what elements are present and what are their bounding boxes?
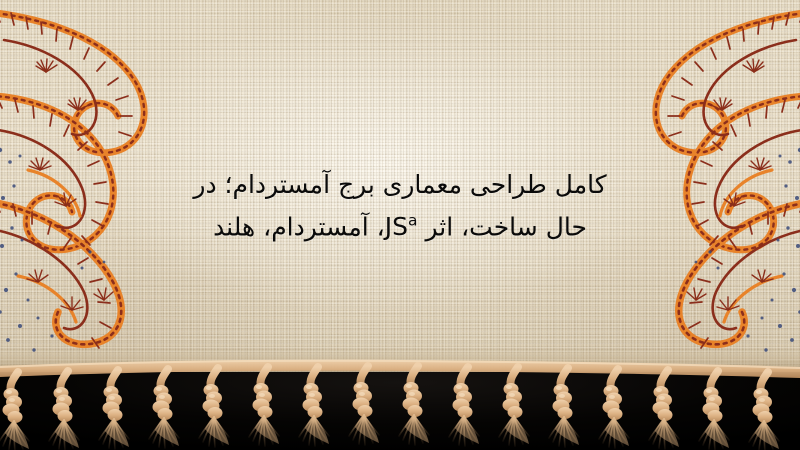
caption-line-2-part-a: حال ساخت، اثر [418,212,587,241]
caption-overlay: کامل طراحی معماری برج آمستردام؛ در حال س… [0,166,800,245]
caption-latin-base: JS [385,212,408,241]
screenshot-root: کامل طراحی معماری برج آمستردام؛ در حال س… [0,0,800,450]
caption-line-1: کامل طراحی معماری برج آمستردام؛ در [0,166,800,203]
caption-line-2-part-b: ، آمستردام، هلند [213,212,385,241]
caption-latin-token: JSa [385,212,418,241]
caption-line-2: حال ساخت، اثر JSa، آمستردام، هلند [0,203,800,245]
tassel-fringe [0,352,800,450]
caption-latin-superscript: a [408,212,418,230]
